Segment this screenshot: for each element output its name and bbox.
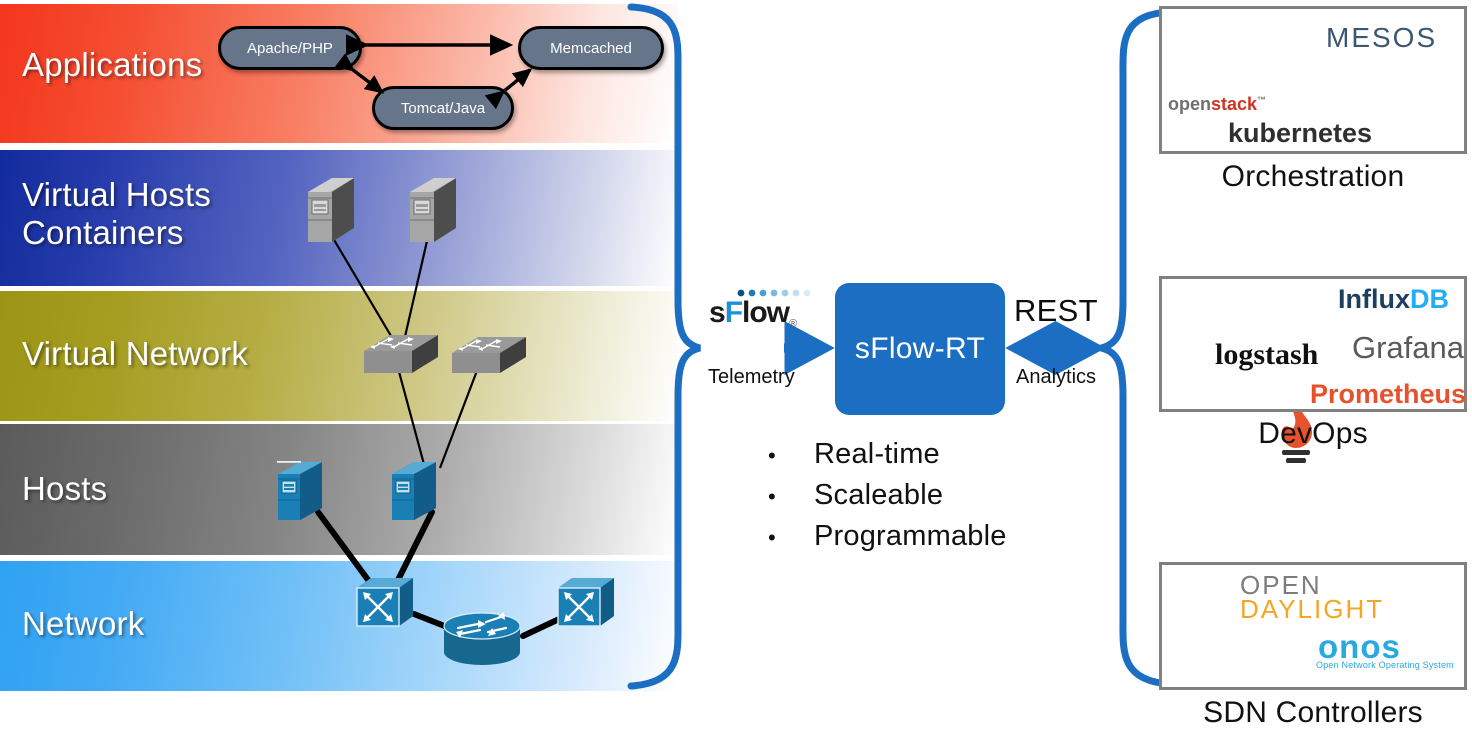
logstash-wordmark: logstash xyxy=(1215,338,1318,372)
openstack-wordmark-open: open xyxy=(1168,94,1211,114)
feature-list: • Real-time • Scaleable • Programmable xyxy=(762,438,1092,561)
diagram-canvas: Applications Virtual Hosts Containers Vi… xyxy=(0,0,1472,740)
sflow-logo-f: F xyxy=(725,296,742,329)
app-node-apache-php: Apache/PHP xyxy=(218,26,362,70)
openstack-trademark: ™ xyxy=(1257,95,1266,105)
telemetry-label: Telemetry xyxy=(708,366,795,389)
kubernetes-wordmark: kubernetes xyxy=(1228,118,1372,149)
panel-caption-orchestration: Orchestration xyxy=(1159,160,1467,194)
sflow-logo-registered: ® xyxy=(789,318,796,330)
app-node-label: Tomcat/Java xyxy=(401,100,485,117)
band-network: Network xyxy=(0,561,678,691)
app-node-label: Apache/PHP xyxy=(247,40,333,57)
bullet-glyph: • xyxy=(762,443,814,469)
band-virtual-network: Virtual Network xyxy=(0,291,678,421)
feature-label: Real-time xyxy=(814,438,940,471)
band-label-virtual-network: Virtual Network xyxy=(22,335,248,373)
band-label-network: Network xyxy=(22,605,144,643)
mesos-wordmark: MESOS xyxy=(1326,22,1437,54)
feature-label: Scaleable xyxy=(814,479,943,512)
onos-tagline: Open Network Operating System xyxy=(1316,660,1454,670)
band-label-virtual-hosts-containers: Virtual Hosts Containers xyxy=(22,176,211,253)
bullet-glyph: • xyxy=(762,484,814,510)
influxdb-wordmark-db: DB xyxy=(1410,284,1449,314)
feature-item: • Programmable xyxy=(762,520,1092,553)
band-label-applications: Applications xyxy=(22,46,202,84)
sflow-logo-low: low xyxy=(742,296,789,329)
feature-item: • Scaleable xyxy=(762,479,1092,512)
prometheus-wordmark: Prometheus xyxy=(1310,379,1466,410)
band-label-hosts: Hosts xyxy=(22,470,107,508)
band-applications: Applications xyxy=(0,4,678,143)
grafana-wordmark: Grafana xyxy=(1352,330,1464,366)
influxdb-wordmark: InfluxDB xyxy=(1338,284,1449,315)
app-node-tomcat-java: Tomcat/Java xyxy=(372,86,514,130)
app-node-memcached: Memcached xyxy=(518,26,664,70)
sflow-logo-s: s xyxy=(709,296,725,329)
sflow-rt-box[interactable]: sFlow-RT xyxy=(835,283,1005,415)
openstack-wordmark: openstack™ xyxy=(1168,94,1266,115)
feature-label: Programmable xyxy=(814,520,1007,553)
panel-caption-sdn-controllers: SDN Controllers xyxy=(1159,696,1467,730)
sflow-rt-label: sFlow-RT xyxy=(855,332,985,366)
app-node-label: Memcached xyxy=(550,40,632,57)
sflow-logo-dots xyxy=(736,286,828,300)
feature-item: • Real-time xyxy=(762,438,1092,471)
bullet-glyph: • xyxy=(762,525,814,551)
band-virtual-hosts-containers: Virtual Hosts Containers xyxy=(0,150,678,286)
band-hosts: Hosts xyxy=(0,424,678,555)
analytics-label: Analytics xyxy=(1016,366,1096,389)
rest-label: REST xyxy=(1014,293,1098,329)
sflow-logo: sFlow® xyxy=(709,296,796,330)
panel-caption-devops: DevOps xyxy=(1159,417,1467,451)
opendaylight-wordmark-daylight: DAYLIGHT xyxy=(1240,594,1384,625)
influxdb-wordmark-influx: Influx xyxy=(1338,284,1410,314)
